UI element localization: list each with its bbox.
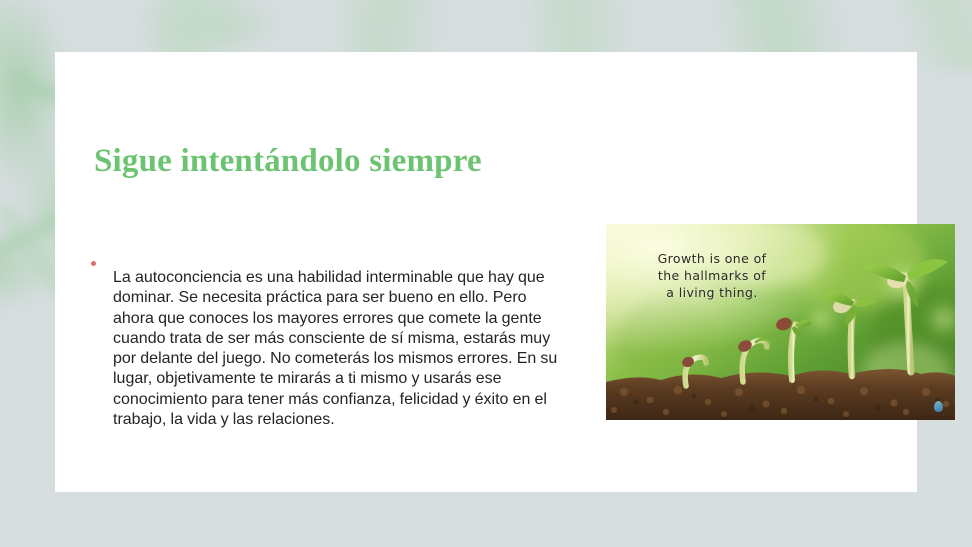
bullet-dot-icon — [91, 261, 96, 266]
photo-quote-line-1: Growth is one of — [622, 250, 802, 267]
bullet-list: La autoconciencia es una habilidad inter… — [91, 252, 569, 446]
bullet-paragraph: La autoconciencia es una habilidad inter… — [113, 268, 569, 430]
page-title: Sigue intentándolo siempre — [94, 142, 514, 180]
seedlings-photo: Growth is one of the hallmarks of a livi… — [606, 224, 955, 420]
list-item: La autoconciencia es una habilidad inter… — [91, 252, 569, 446]
slide-canvas: Sigue intentándolo siempre La autoconcie… — [0, 0, 972, 547]
photo-quote-line-3: a living thing. — [622, 284, 802, 301]
photo-quote-text: Growth is one of the hallmarks of a livi… — [622, 250, 802, 301]
slide-card: Sigue intentándolo siempre La autoconcie… — [55, 52, 917, 492]
droplet-watermark-icon — [934, 401, 943, 412]
photo-quote-line-2: the hallmarks of — [622, 267, 802, 284]
